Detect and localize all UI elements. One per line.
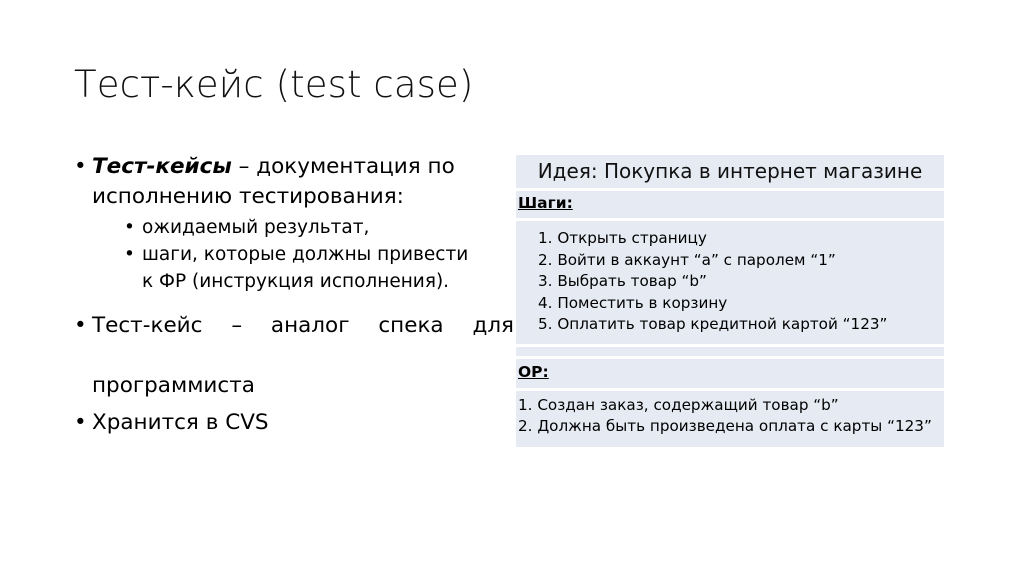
list-item: • Тест-кейсы – документация по исполнени…: [66, 152, 514, 212]
list-item: 3. Выбрать товар “b”: [516, 271, 944, 293]
table-row-steps-heading: Шаги:: [516, 191, 944, 218]
list-item: • шаги, которые должны привести к ФР (ин…: [66, 241, 514, 295]
bullet-icon: •: [74, 408, 87, 438]
test-case-table: Идея: Покупка в интернет магазине Шаги: …: [516, 155, 944, 447]
table-row-idea: Идея: Покупка в интернет магазине: [516, 155, 944, 188]
bullet-list: • Тест-кейсы – документация по исполнени…: [66, 152, 514, 440]
list-item: 1. Открыть страницу: [516, 228, 944, 250]
sub-bullet-list: • ожидаемый результат, • шаги, которые д…: [66, 214, 514, 295]
list-item: 2. Должна быть произведена оплата с карт…: [516, 416, 944, 438]
bullet-icon: •: [74, 152, 87, 182]
bullet-text-line-1: шаги, которые должны привести: [142, 244, 468, 265]
steps-heading-label: Шаги:: [518, 194, 573, 212]
table-row-steps-body: 1. Открыть страницу 2. Войти в аккаунт “…: [516, 221, 944, 344]
list-item: 4. Поместить в корзину: [516, 293, 944, 315]
table-row-spacer: [516, 347, 944, 356]
bullet-text-line-2: программиста: [92, 371, 514, 401]
list-item: 2. Войти в аккаунт “a” с паролем “1”: [516, 250, 944, 272]
bullet-icon: •: [124, 214, 135, 241]
expected-heading-label: ОР:: [518, 363, 549, 381]
list-item: • Хранится в CVS: [66, 408, 514, 438]
bullet-text: Хранится в CVS: [92, 410, 269, 435]
bullet-icon: •: [124, 241, 135, 268]
list-item: • ожидаемый результат,: [66, 214, 514, 241]
table-row-expected-heading: ОР:: [516, 359, 944, 388]
bullet-icon: •: [74, 311, 87, 341]
list-item: • Тест-кейс – аналог спека для программи…: [66, 311, 514, 401]
list-item: 1. Создан заказ, содержащий товар “b”: [516, 395, 944, 417]
page-title: Тест-кейс (test case): [74, 62, 954, 108]
bullet-text-line-1: Тест-кейс – аналог спека для: [92, 311, 514, 371]
list-item: 5. Оплатить товар кредитной картой “123”: [516, 314, 944, 336]
table-row-expected-body: 1. Создан заказ, содержащий товар “b” 2.…: [516, 391, 944, 447]
bullet-text: ожидаемый результат,: [142, 217, 369, 238]
bullet-text-line-2: к ФР (инструкция исполнения).: [142, 271, 449, 292]
bullet-lead-term: Тест-кейсы: [92, 154, 232, 179]
